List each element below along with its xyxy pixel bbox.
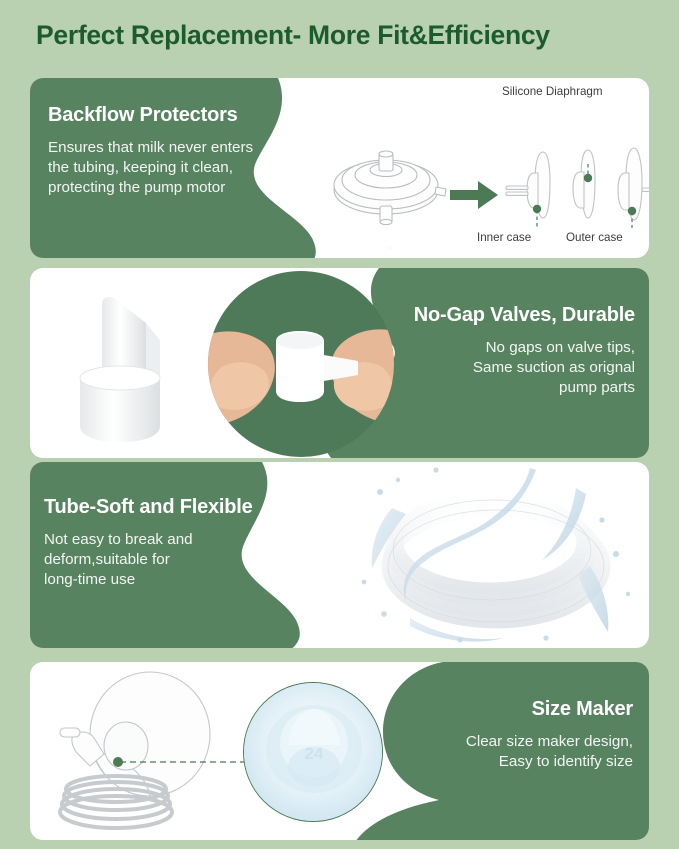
card-body: Ensures that milk never enters the tubin… — [48, 138, 288, 199]
callout-label-silicone-diaphragm: Silicone Diaphragm — [502, 85, 603, 98]
callout-label-outer-case: Outer case — [566, 231, 623, 244]
page-title: Perfect Replacement- More Fit&Efficiency — [36, 20, 646, 51]
card-body: Not easy to break and deform,suitable fo… — [44, 530, 294, 591]
size-marker-value-24: 24 — [305, 744, 324, 763]
arrow-icon — [450, 181, 498, 209]
card-heading: Size Maker — [353, 698, 633, 721]
duckbill-valve-photo — [50, 268, 230, 458]
card-heading: No-Gap Valves, Durable — [345, 304, 635, 327]
feature-card-size-maker: 24 Size Maker Clear size maker design, E… — [30, 662, 649, 840]
feature-card-no-gap-valves: No-Gap Valves, Durable No gaps on valve … — [30, 268, 649, 458]
feature-card-backflow-protectors: Backflow Protectors Ensures that milk ne… — [30, 78, 649, 258]
coiled-tubing-water-splash-photo — [340, 462, 649, 648]
card-heading: Backflow Protectors — [48, 104, 288, 127]
callout-label-inner-case: Inner case — [477, 231, 531, 244]
feature-card-tube-soft-flexible: Tube-Soft and Flexible Not easy to break… — [30, 462, 649, 648]
card-body: No gaps on valve tips, Same suction as o… — [345, 338, 635, 399]
card-body: Clear size maker design, Easy to identif… — [353, 732, 633, 772]
card-heading: Tube-Soft and Flexible — [44, 496, 294, 519]
